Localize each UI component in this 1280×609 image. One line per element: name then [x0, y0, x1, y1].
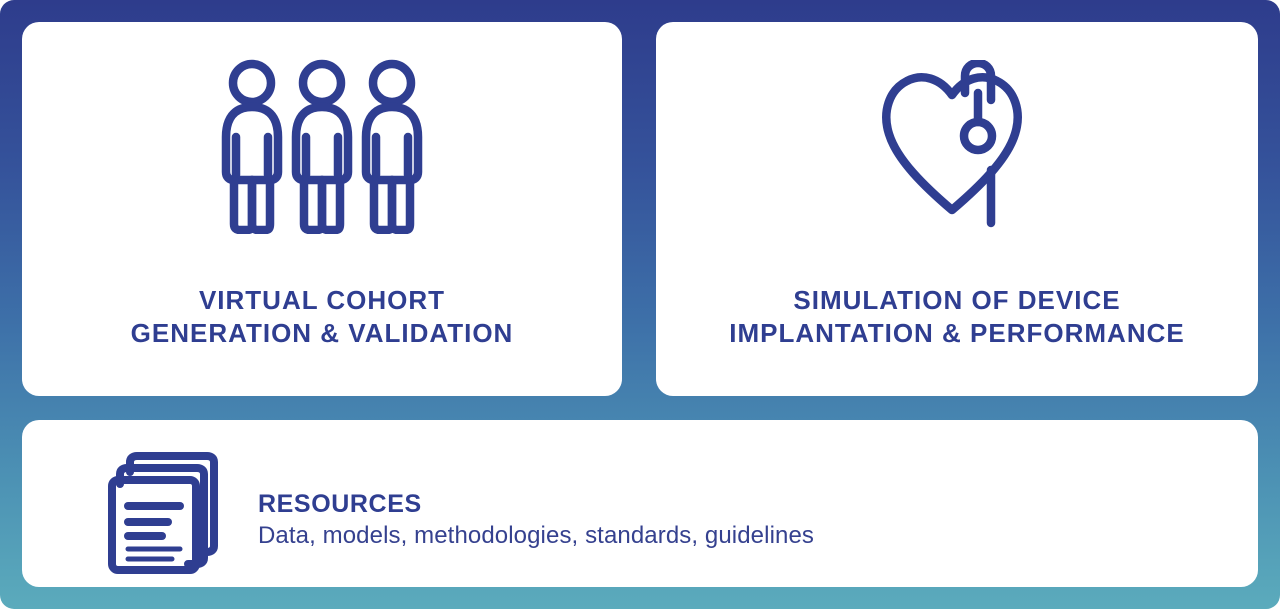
- heart-with-device-icon: [877, 60, 1037, 232]
- stacked-documents-icon-wrap: [108, 446, 220, 574]
- card-resources[interactable]: RESOURCES Data, models, methodologies, s…: [22, 420, 1258, 587]
- card-device-simulation[interactable]: SIMULATION OF DEVICE IMPLANTATION & PERF…: [656, 22, 1258, 396]
- stacked-documents-icon: [108, 452, 220, 574]
- card-title: VIRTUAL COHORT GENERATION & VALIDATION: [42, 284, 602, 350]
- card-title: SIMULATION OF DEVICE IMPLANTATION & PERF…: [676, 284, 1238, 350]
- heart-icon-area: [656, 22, 1258, 270]
- resources-text-block: RESOURCES Data, models, methodologies, s…: [258, 446, 814, 552]
- card-virtual-cohort[interactable]: VIRTUAL COHORT GENERATION & VALIDATION: [22, 22, 622, 396]
- resources-heading: RESOURCES: [258, 490, 814, 518]
- resources-subtitle: Data, models, methodologies, standards, …: [258, 520, 814, 552]
- infographic-panel: VIRTUAL COHORT GENERATION & VALIDATION: [0, 0, 1280, 609]
- card-device-simulation-title-block: SIMULATION OF DEVICE IMPLANTATION & PERF…: [656, 284, 1258, 350]
- card-virtual-cohort-title-block: VIRTUAL COHORT GENERATION & VALIDATION: [22, 284, 622, 350]
- three-people-icon-area: [22, 22, 622, 270]
- three-people-icon: [219, 59, 425, 234]
